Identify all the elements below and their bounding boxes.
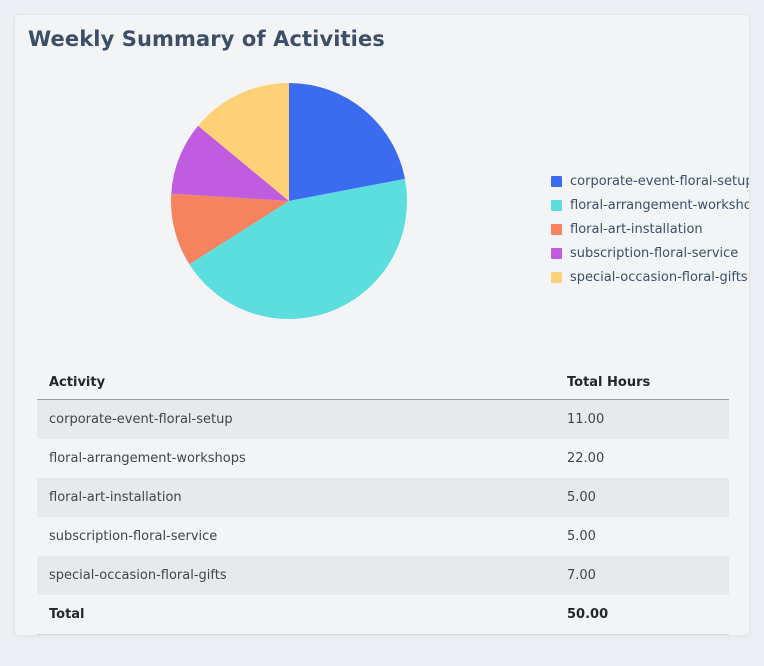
legend-item-special-occasion-floral-gifts[interactable]: special-occasion-floral-gifts xyxy=(551,265,750,289)
legend-item-subscription-floral-service[interactable]: subscription-floral-service xyxy=(551,241,750,265)
pie-chart xyxy=(169,81,409,321)
legend-swatch-icon xyxy=(551,224,562,235)
table-row[interactable]: corporate-event-floral-setup 11.00 xyxy=(37,400,729,440)
legend-swatch-icon xyxy=(551,176,562,187)
cell-total-hours: 22.00 xyxy=(555,439,729,478)
cell-activity: subscription-floral-service xyxy=(37,517,555,556)
legend-item-floral-arrangement-workshops[interactable]: floral-arrangement-workshops xyxy=(551,193,750,217)
cell-activity: special-occasion-floral-gifts xyxy=(37,556,555,595)
chart-region: corporate-event-floral-setup floral-arra… xyxy=(15,77,749,357)
column-header-activity: Activity xyxy=(37,367,555,400)
legend-item-label: special-occasion-floral-gifts xyxy=(570,271,748,284)
legend-item-label: subscription-floral-service xyxy=(570,247,738,260)
weekly-summary-card: Weekly Summary of Activities corporate-e… xyxy=(14,14,750,636)
pie-slice-group xyxy=(171,83,407,319)
cell-total-hours: 11.00 xyxy=(555,400,729,440)
chart-legend: corporate-event-floral-setup floral-arra… xyxy=(551,169,750,289)
legend-item-label: corporate-event-floral-setup xyxy=(570,175,750,188)
table-row[interactable]: floral-art-installation 5.00 xyxy=(37,478,729,517)
table-head: Activity Total Hours xyxy=(37,367,729,400)
cell-total-hours: 5.00 xyxy=(555,478,729,517)
activities-table: Activity Total Hours corporate-event-flo… xyxy=(37,367,729,635)
legend-swatch-icon xyxy=(551,272,562,283)
activities-table-wrap: Activity Total Hours corporate-event-flo… xyxy=(37,367,729,635)
cell-total-hours: 5.00 xyxy=(555,517,729,556)
pie-chart-svg xyxy=(169,81,409,321)
legend-swatch-icon xyxy=(551,200,562,211)
legend-item-floral-art-installation[interactable]: floral-art-installation xyxy=(551,217,750,241)
table-body: corporate-event-floral-setup 11.00 flora… xyxy=(37,400,729,635)
legend-swatch-icon xyxy=(551,248,562,259)
column-header-total-hours: Total Hours xyxy=(555,367,729,400)
cell-activity: floral-art-installation xyxy=(37,478,555,517)
legend-item-label: floral-art-installation xyxy=(570,223,703,236)
legend-item-corporate-event-floral-setup[interactable]: corporate-event-floral-setup xyxy=(551,169,750,193)
table-total-row: Total 50.00 xyxy=(37,595,729,635)
cell-activity: floral-arrangement-workshops xyxy=(37,439,555,478)
cell-total-hours: 50.00 xyxy=(555,595,729,635)
table-row[interactable]: special-occasion-floral-gifts 7.00 xyxy=(37,556,729,595)
page-title: Weekly Summary of Activities xyxy=(28,27,385,51)
legend-item-label: floral-arrangement-workshops xyxy=(570,199,750,212)
cell-total-hours: 7.00 xyxy=(555,556,729,595)
cell-total-label: Total xyxy=(37,595,555,635)
table-header-row: Activity Total Hours xyxy=(37,367,729,400)
cell-activity: corporate-event-floral-setup xyxy=(37,400,555,440)
table-row[interactable]: subscription-floral-service 5.00 xyxy=(37,517,729,556)
table-row[interactable]: floral-arrangement-workshops 22.00 xyxy=(37,439,729,478)
